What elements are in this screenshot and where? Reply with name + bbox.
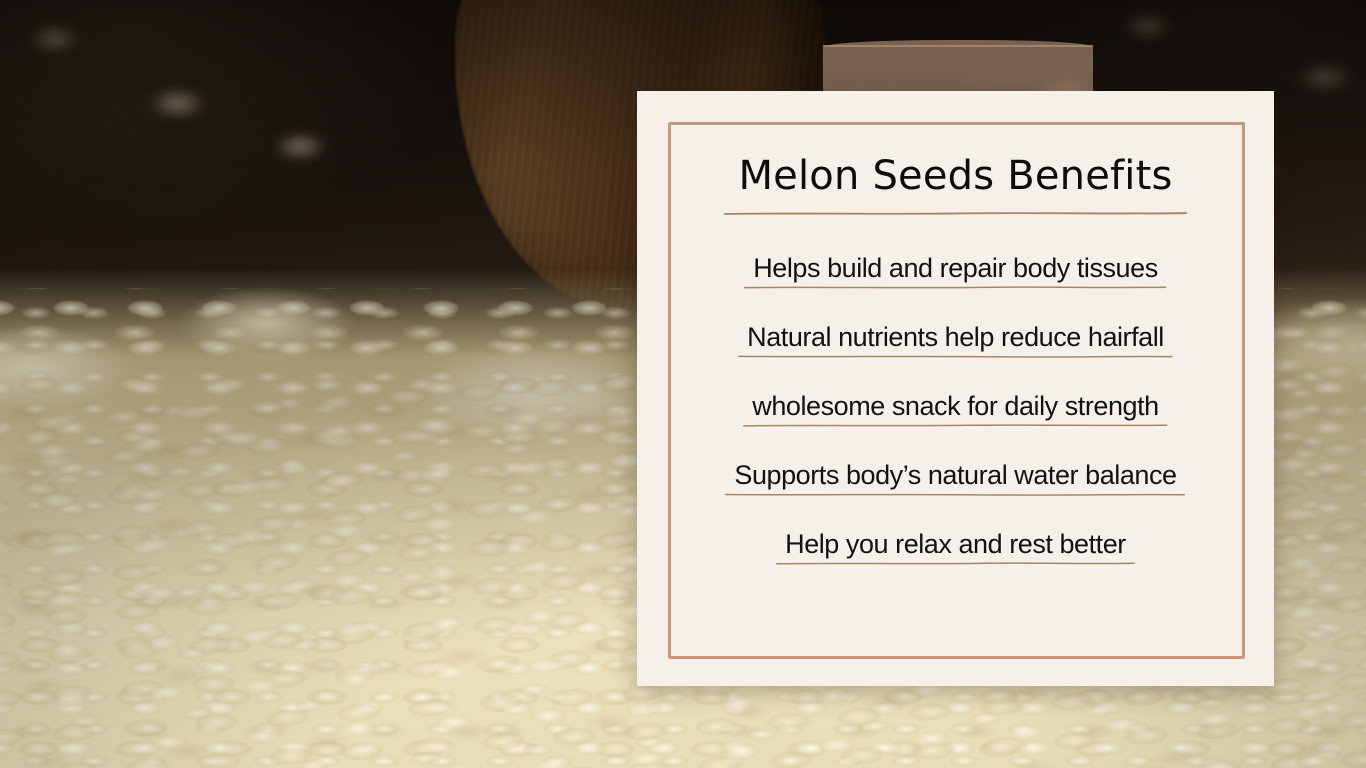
benefit-item-3: wholesome snack for daily strength (752, 391, 1158, 427)
poster-canvas: Melon Seeds Benefits Helps build and rep… (0, 0, 1366, 768)
benefit-underline-2 (738, 355, 1173, 358)
card-content: Melon Seeds Benefits Helps build and rep… (637, 91, 1274, 686)
benefit-underline-5 (776, 562, 1135, 565)
benefit-text-2: Natural nutrients help reduce hairfall (747, 322, 1164, 352)
benefit-item-4: Supports body’s natural water balance (734, 460, 1176, 496)
benefit-item-1: Helps build and repair body tissues (753, 253, 1158, 289)
page-title: Melon Seeds Benefits (724, 155, 1186, 210)
benefit-item-2: Natural nutrients help reduce hairfall (747, 322, 1164, 358)
benefit-text-3: wholesome snack for daily strength (752, 391, 1158, 421)
benefit-text-1: Helps build and repair body tissues (753, 253, 1158, 283)
title-underline (724, 212, 1187, 215)
benefit-underline-1 (744, 286, 1167, 289)
benefit-item-5: Help you relax and rest better (785, 529, 1126, 565)
benefits-card: Melon Seeds Benefits Helps build and rep… (637, 91, 1274, 686)
benefit-text-5: Help you relax and rest better (785, 529, 1126, 559)
benefit-underline-3 (743, 424, 1167, 427)
benefit-text-4: Supports body’s natural water balance (734, 460, 1176, 490)
benefits-list: Helps build and repair body tissues Natu… (671, 253, 1240, 565)
benefit-underline-4 (725, 493, 1185, 496)
